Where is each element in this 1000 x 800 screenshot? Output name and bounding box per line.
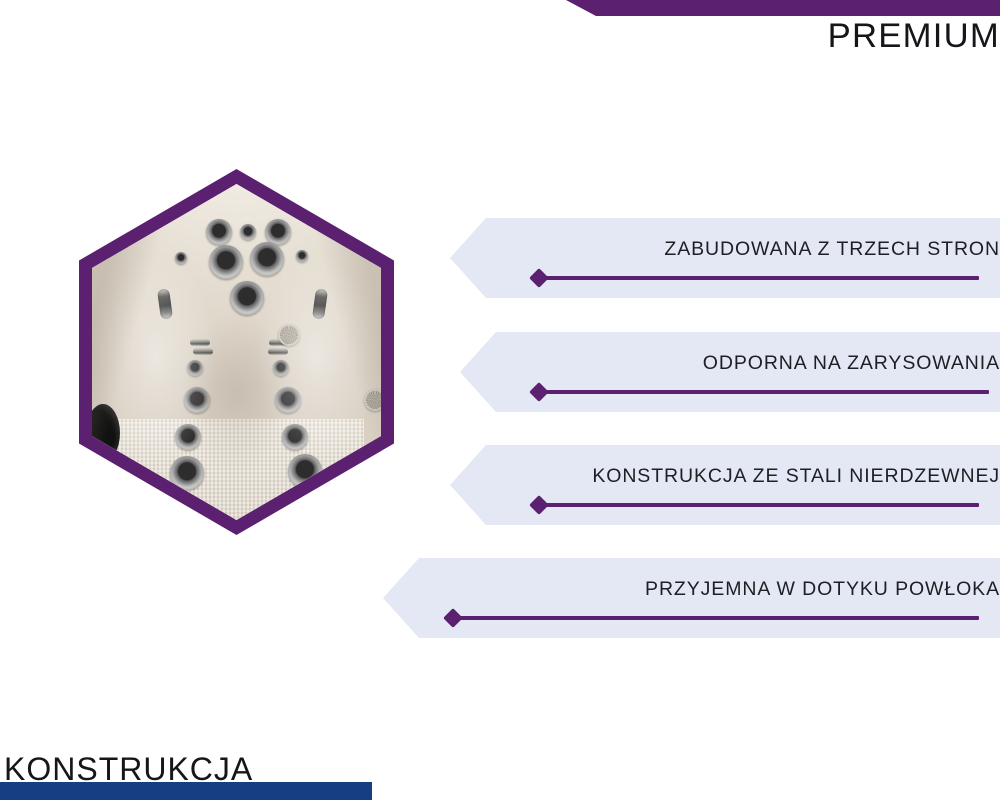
jet-icon	[296, 250, 308, 262]
footer-title: KONSTRUKCJA	[4, 753, 253, 785]
top-accent-banner	[566, 0, 1000, 16]
jet-icon	[187, 360, 203, 376]
jet-icon	[209, 245, 243, 279]
jet-icon	[265, 219, 291, 245]
feature-panel[interactable]: ZABUDOWANA Z TRZECH STRON	[450, 218, 1000, 298]
jet-icon	[250, 242, 284, 276]
drain-icon	[278, 324, 300, 346]
jet-icon	[175, 252, 187, 264]
jet-rib-icon	[269, 339, 289, 346]
jet-rib-icon	[268, 348, 288, 355]
feature-underline	[538, 276, 979, 280]
jet-slot-icon	[312, 288, 328, 319]
feature-panel[interactable]: ODPORNA NA ZARYSOWANIA	[460, 332, 1000, 412]
jet-icon	[175, 424, 201, 450]
feature-label: ZABUDOWANA Z TRZECH STRON	[664, 238, 1000, 261]
feature-label: KONSTRUKCJA ZE STALI NIERDZEWNEJ	[592, 465, 1000, 488]
feature-underline	[538, 503, 979, 507]
bottom-accent-banner-shape	[0, 782, 372, 800]
jet-slot-icon	[157, 288, 173, 319]
jet-icon	[184, 387, 210, 413]
jet-icon	[240, 224, 256, 240]
feature-underline	[538, 390, 989, 394]
jet-icon	[206, 219, 232, 245]
feature-label: PRZYJEMNA W DOTYKU POWŁOKA	[645, 578, 1000, 601]
feature-panel[interactable]: KONSTRUKCJA ZE STALI NIERDZEWNEJ	[450, 445, 1000, 525]
jet-icon	[275, 387, 301, 413]
bottom-accent-banner	[0, 782, 372, 800]
hexagon-image-frame	[79, 169, 394, 535]
feature-underline	[452, 616, 979, 620]
feature-panel[interactable]: PRZYJEMNA W DOTYKU POWŁOKA	[383, 558, 1000, 638]
page-title: PREMIUM	[828, 19, 1000, 53]
jet-rib-icon	[190, 339, 210, 346]
drain-icon	[364, 389, 381, 411]
jet-icon	[282, 424, 308, 450]
slide-root: { "header": { "banner_color": "#5c2070",…	[0, 0, 1000, 800]
feature-label: ODPORNA NA ZARYSOWANIA	[703, 352, 1000, 375]
jet-icon	[230, 281, 264, 315]
jet-rib-icon	[193, 348, 213, 355]
jet-icon	[273, 360, 289, 376]
